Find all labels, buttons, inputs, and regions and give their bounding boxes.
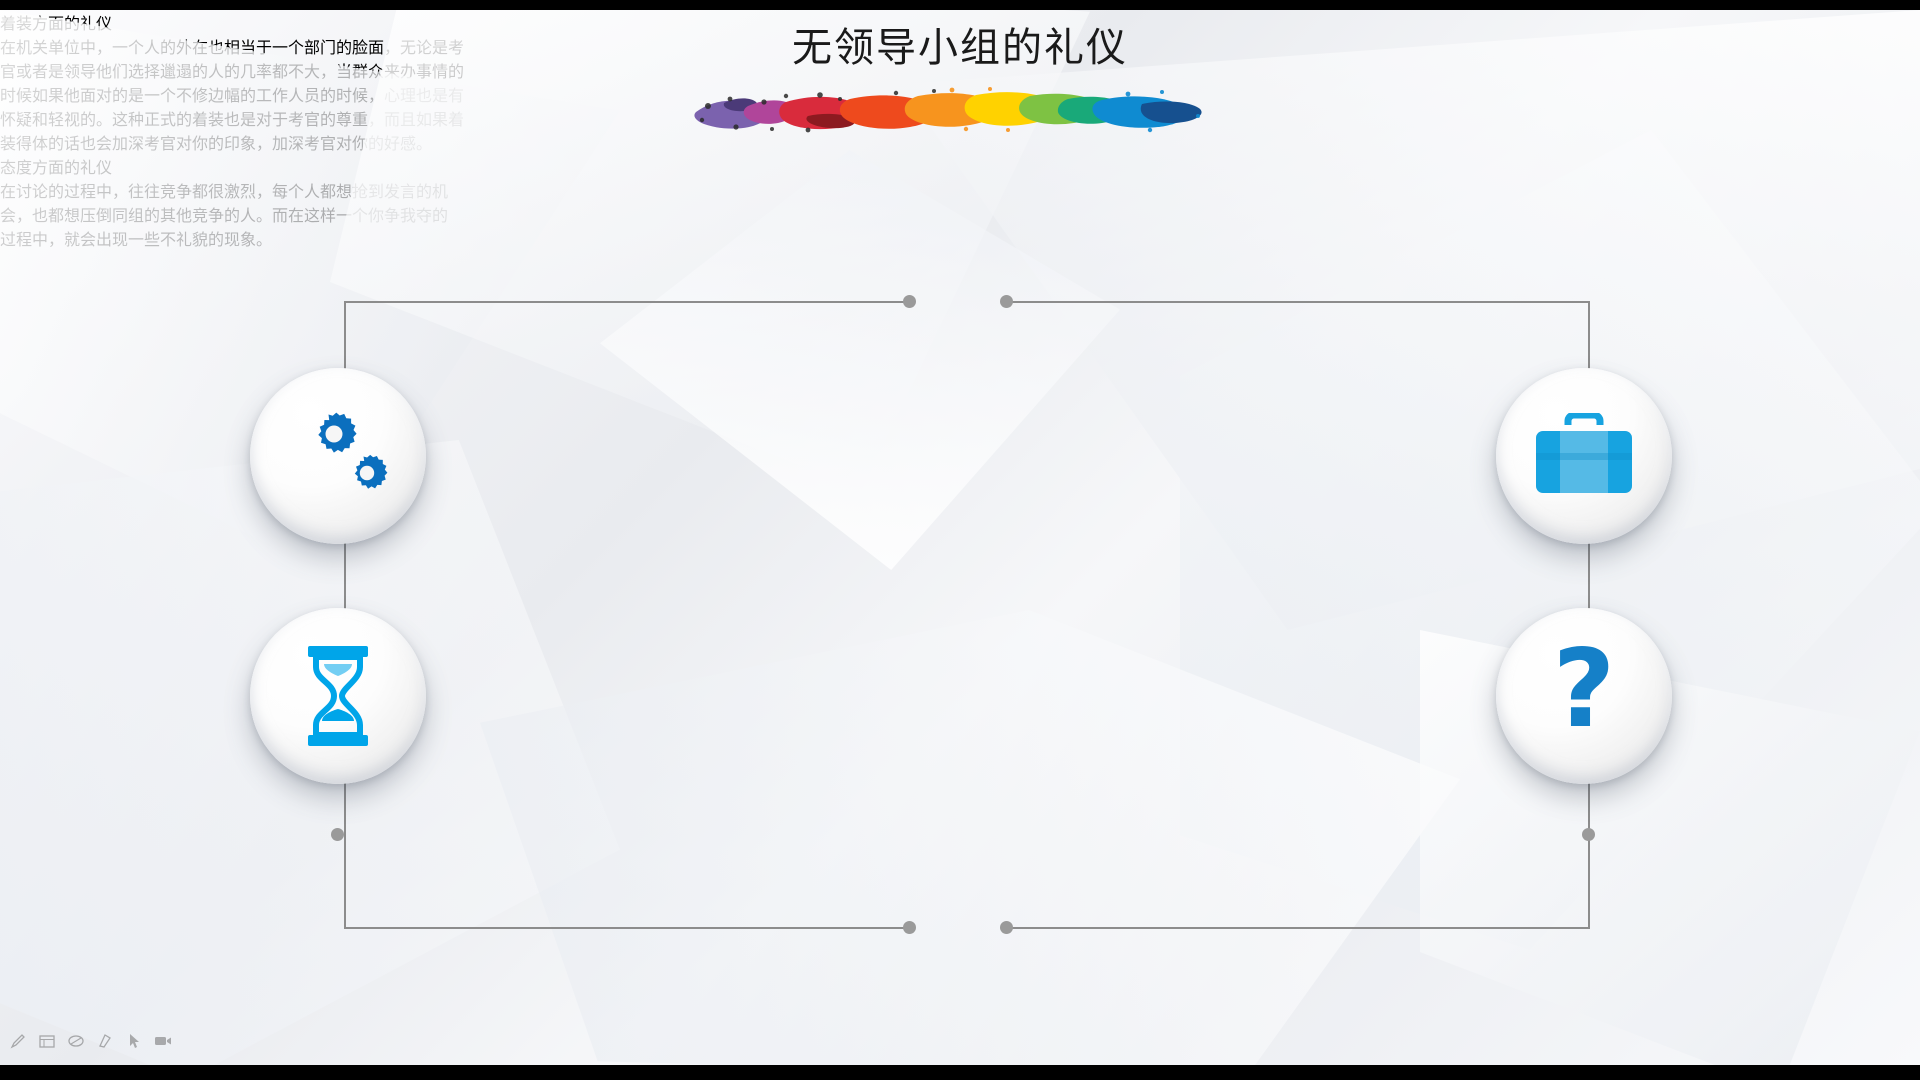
annotation-toolbar[interactable] [8, 1031, 173, 1051]
pen-icon[interactable] [8, 1031, 28, 1051]
highlighter-icon[interactable] [95, 1031, 115, 1051]
briefcase-icon [1530, 413, 1638, 499]
presentation-screen: 无领导小组的礼仪 [0, 0, 1920, 1080]
screen-icon[interactable] [153, 1031, 173, 1051]
gears-icon [284, 408, 392, 504]
background-facet [1180, 130, 1920, 950]
hourglass-icon [298, 644, 378, 748]
pointer-icon[interactable] [124, 1031, 144, 1051]
hourglass-badge[interactable] [250, 608, 426, 784]
question-mark-badge[interactable]: ? [1496, 608, 1672, 784]
right-column-body: 在讨论的过程中，往往竞争都很激烈，每个人都想抢到发言的机会，也都想压倒同组的其他… [0, 178, 452, 250]
bracket-dot [331, 828, 344, 841]
svg-text:?: ? [1553, 642, 1616, 750]
briefcase-badge[interactable] [1496, 368, 1672, 544]
gears-badge[interactable] [250, 368, 426, 544]
slide-canvas: 无领导小组的礼仪 [0, 10, 1920, 1065]
slide-title: 无领导小组的礼仪 [0, 26, 1920, 70]
bracket-dot [903, 295, 916, 308]
question-mark-icon: ? [1545, 642, 1623, 750]
bracket-dot [1582, 828, 1595, 841]
bracket-dot [1000, 295, 1013, 308]
right-column-heading: 态度方面的礼仪 [0, 154, 452, 178]
bracket-dot [903, 921, 916, 934]
background-facet [480, 610, 1460, 1065]
right-content-column: 态度方面的礼仪 在讨论的过程中，往往竞争都很激烈，每个人都想抢到发言的机会，也都… [0, 154, 452, 250]
paint-splatter-decoration [690, 82, 1220, 134]
eraser-icon[interactable] [66, 1031, 86, 1051]
bracket-dot [1000, 921, 1013, 934]
background-facet [600, 150, 1120, 570]
slides-icon[interactable] [37, 1031, 57, 1051]
